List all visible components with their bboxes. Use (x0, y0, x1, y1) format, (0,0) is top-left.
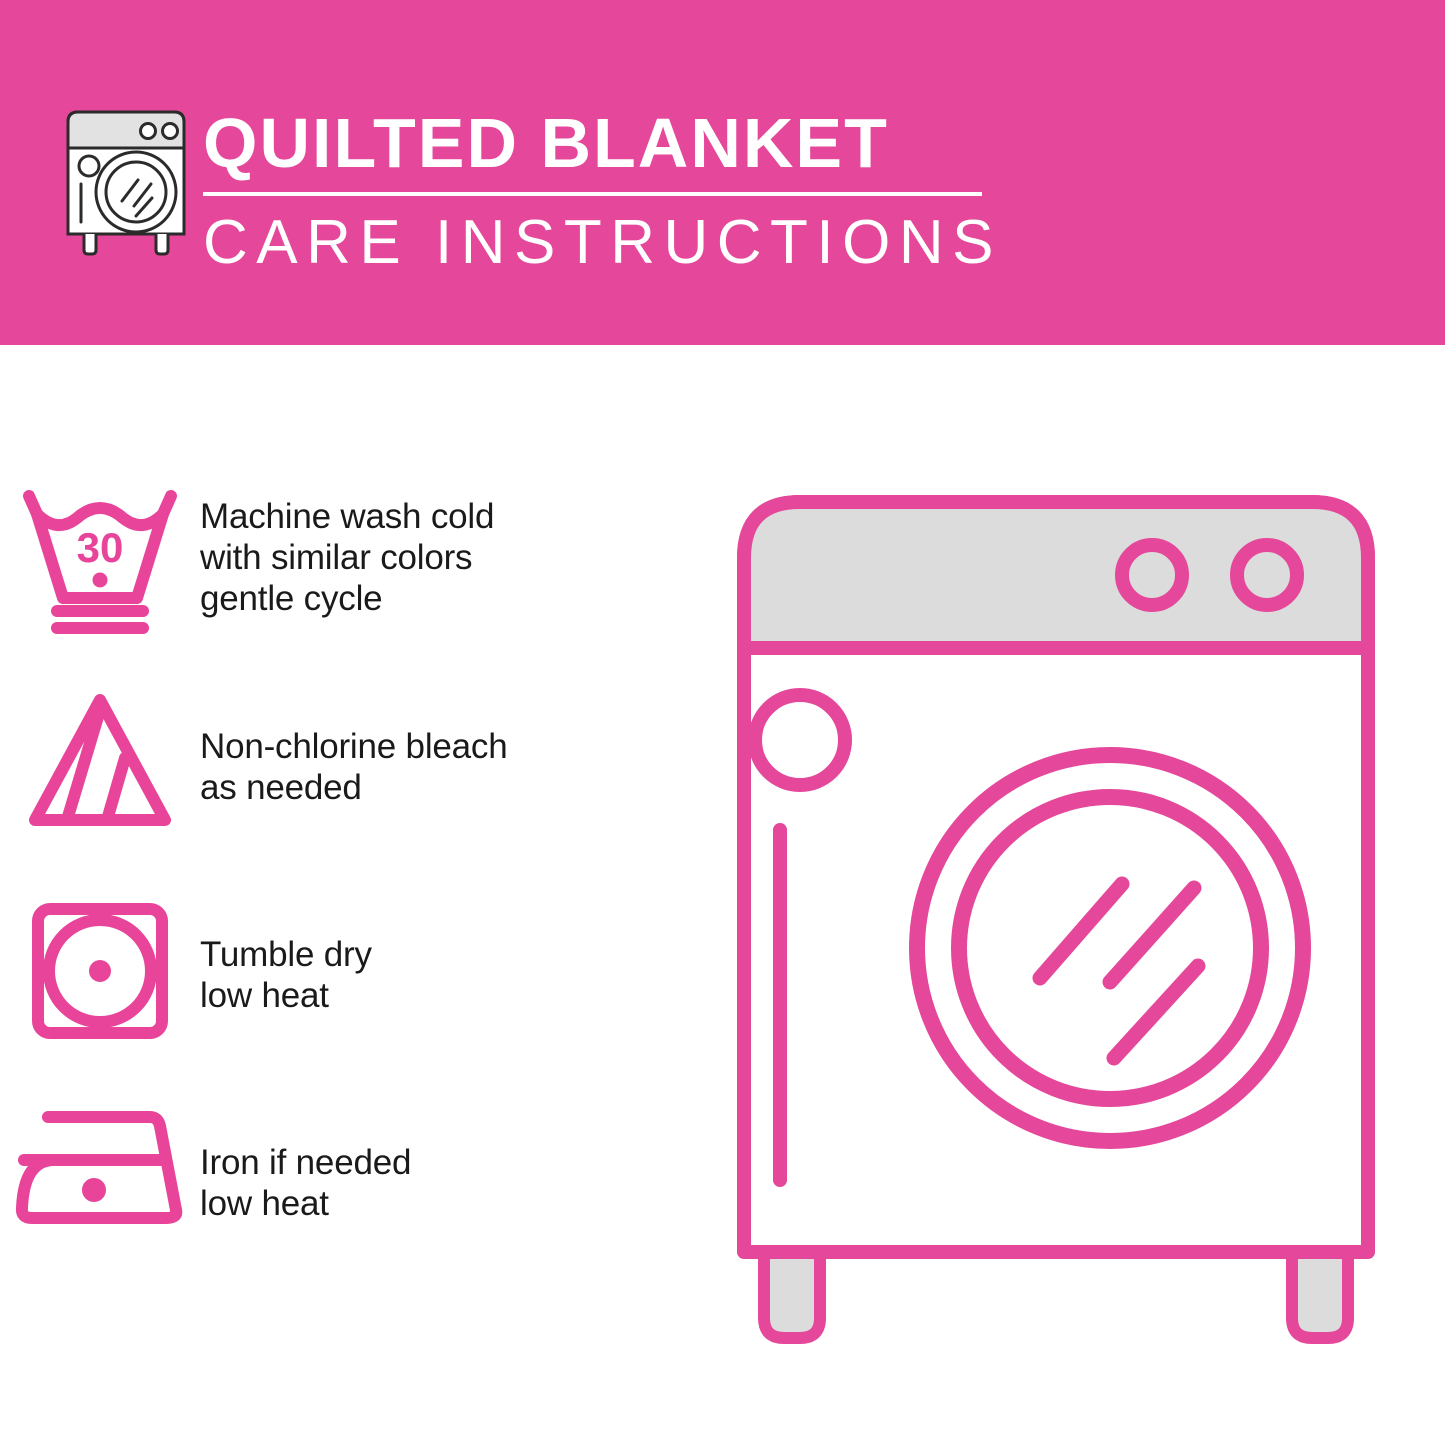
instruction-text: Iron if needed low heat (200, 1094, 411, 1224)
tumble-dry-low-icon (0, 886, 200, 1046)
front-load-washing-machine-illustration (722, 480, 1422, 1370)
instruction-line: as needed (200, 767, 508, 808)
instruction-line: Non-chlorine bleach (200, 726, 508, 767)
page-subtitle: CARE INSTRUCTIONS (203, 206, 993, 280)
instruction-text: Non-chlorine bleach as needed (200, 678, 508, 808)
knob-right (1237, 545, 1297, 605)
iron-low-heat-icon (0, 1094, 200, 1234)
non-chlorine-bleach-triangle-icon (0, 678, 200, 838)
washing-machine-icon (62, 104, 190, 256)
instruction-line: low heat (200, 1183, 411, 1224)
indicator-light (755, 695, 845, 785)
header-text-block: QUILTED BLANKET CARE INSTRUCTIONS (203, 100, 993, 280)
knob-left (1122, 545, 1182, 605)
list-item: 30 Machine wash cold with similar colors… (0, 470, 700, 678)
wash-tub-30-gentle-icon: 30 (0, 470, 200, 640)
title-divider (203, 192, 982, 196)
instruction-text: Machine wash cold with similar colors ge… (200, 470, 494, 619)
list-item: Tumble dry low heat (0, 886, 700, 1094)
instruction-list: 30 Machine wash cold with similar colors… (0, 470, 700, 1302)
wash-temperature-label: 30 (77, 524, 124, 571)
instruction-line: Iron if needed (200, 1142, 411, 1183)
instruction-text: Tumble dry low heat (200, 886, 372, 1016)
header-band: QUILTED BLANKET CARE INSTRUCTIONS (0, 0, 1445, 345)
instruction-line: low heat (200, 975, 372, 1016)
instruction-line: Tumble dry (200, 934, 372, 975)
care-instructions-infographic: QUILTED BLANKET CARE INSTRUCTIONS 3 (0, 0, 1445, 1445)
instruction-line: Machine wash cold (200, 496, 494, 537)
page-title: QUILTED BLANKET (203, 100, 993, 186)
list-item: Non-chlorine bleach as needed (0, 678, 700, 886)
instruction-line: with similar colors (200, 537, 494, 578)
instruction-line: gentle cycle (200, 578, 494, 619)
list-item: Iron if needed low heat (0, 1094, 700, 1302)
